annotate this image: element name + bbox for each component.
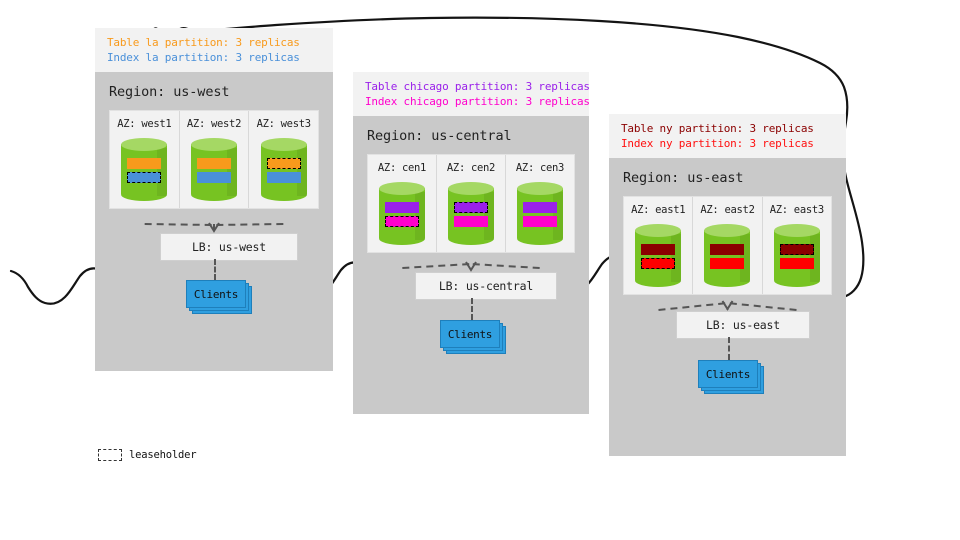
index-la-replica (197, 172, 231, 183)
table-la-replica (127, 158, 161, 169)
index-partition-line: Index la partition: 3 replicas (107, 50, 321, 65)
load-balancer-us-central[interactable]: LB: us-central (415, 272, 557, 300)
index-chicago-replica (523, 216, 557, 227)
table-ny-replica-leaseholder (780, 244, 814, 255)
table-chicago-replica-leaseholder (454, 202, 488, 213)
region-body-us-west: Region: us-westAZ: west1AZ: west2AZ: wes… (95, 72, 333, 371)
index-ny-replica (780, 258, 814, 269)
az-row: AZ: cen1AZ: cen2AZ: cen3 (367, 154, 575, 253)
node-cylinder-icon (517, 182, 563, 244)
clients-node-us-west[interactable]: Clients (186, 280, 256, 316)
partition-header-us-east: Table ny partition: 3 replicasIndex ny p… (609, 114, 846, 158)
lb-to-clients-connector (728, 337, 730, 360)
az-cell-west2: AZ: west2 (180, 111, 250, 208)
node-cylinder-icon (704, 224, 750, 286)
node-cylinder-icon (635, 224, 681, 286)
lb-to-clients-connector (214, 259, 216, 280)
az-label: AZ: cen2 (437, 162, 505, 174)
cylinder-top (379, 182, 425, 195)
az-label: AZ: west2 (180, 118, 249, 130)
az-cell-cen3: AZ: cen3 (506, 155, 574, 252)
clients-card-front: Clients (186, 280, 246, 308)
az-cell-west3: AZ: west3 (249, 111, 318, 208)
partition-header-us-central: Table chicago partition: 3 replicasIndex… (353, 72, 589, 116)
table-chicago-replica (385, 202, 419, 213)
diagram-canvas: Table la partition: 3 replicasIndex la p… (0, 0, 960, 540)
az-label: AZ: east3 (763, 204, 831, 216)
table-la-replica-leaseholder (267, 158, 301, 169)
cylinder-top (517, 182, 563, 195)
region-title: Region: us-west (95, 72, 333, 110)
table-ny-replica (641, 244, 675, 255)
load-balancer-us-west[interactable]: LB: us-west (160, 233, 298, 261)
index-chicago-replica-leaseholder (385, 216, 419, 227)
az-cell-cen2: AZ: cen2 (437, 155, 506, 252)
lb-to-clients-connector (471, 298, 473, 320)
az-label: AZ: cen1 (368, 162, 436, 174)
az-cell-east2: AZ: east2 (693, 197, 762, 294)
index-la-replica-leaseholder (127, 172, 161, 183)
node-cylinder-icon (191, 138, 237, 200)
cylinder-top (635, 224, 681, 237)
legend-label: leaseholder (129, 449, 196, 461)
region-body-us-east: Region: us-eastAZ: east1AZ: east2AZ: eas… (609, 158, 846, 456)
node-cylinder-icon (774, 224, 820, 286)
clients-card-front: Clients (440, 320, 500, 348)
load-balancer-us-east[interactable]: LB: us-east (676, 311, 810, 339)
table-partition-line: Table ny partition: 3 replicas (621, 121, 834, 136)
cylinder-top (774, 224, 820, 237)
az-cell-west1: AZ: west1 (110, 111, 180, 208)
table-chicago-replica (523, 202, 557, 213)
cylinder-top (121, 138, 167, 151)
clients-node-us-east[interactable]: Clients (698, 360, 768, 396)
index-partition-line: Index chicago partition: 3 replicas (365, 94, 577, 109)
region-panel-us-central: Table chicago partition: 3 replicasIndex… (353, 72, 589, 414)
region-title: Region: us-east (609, 158, 846, 196)
az-label: AZ: east1 (624, 204, 692, 216)
az-label: AZ: east2 (693, 204, 761, 216)
az-label: AZ: west1 (110, 118, 179, 130)
node-cylinder-icon (261, 138, 307, 200)
az-cell-east3: AZ: east3 (763, 197, 831, 294)
az-cell-east1: AZ: east1 (624, 197, 693, 294)
legend: leaseholder (98, 449, 196, 461)
az-cell-cen1: AZ: cen1 (368, 155, 437, 252)
cylinder-top (448, 182, 494, 195)
az-row: AZ: west1AZ: west2AZ: west3 (109, 110, 319, 209)
az-row: AZ: east1AZ: east2AZ: east3 (623, 196, 832, 295)
node-cylinder-icon (121, 138, 167, 200)
clients-node-us-central[interactable]: Clients (440, 320, 510, 356)
table-la-replica (197, 158, 231, 169)
table-partition-line: Table chicago partition: 3 replicas (365, 79, 577, 94)
region-panel-us-west: Table la partition: 3 replicasIndex la p… (95, 28, 333, 371)
index-chicago-replica (454, 216, 488, 227)
cylinder-top (261, 138, 307, 151)
partition-header-us-west: Table la partition: 3 replicasIndex la p… (95, 28, 333, 72)
node-cylinder-icon (379, 182, 425, 244)
index-ny-replica-leaseholder (641, 258, 675, 269)
index-partition-line: Index ny partition: 3 replicas (621, 136, 834, 151)
region-body-us-central: Region: us-centralAZ: cen1AZ: cen2AZ: ce… (353, 116, 589, 414)
leaseholder-dashed-rect-icon (98, 449, 122, 461)
region-panel-us-east: Table ny partition: 3 replicasIndex ny p… (609, 114, 846, 456)
index-ny-replica (710, 258, 744, 269)
cylinder-top (191, 138, 237, 151)
az-label: AZ: west3 (249, 118, 318, 130)
index-la-replica (267, 172, 301, 183)
region-title: Region: us-central (353, 116, 589, 154)
node-cylinder-icon (448, 182, 494, 244)
az-label: AZ: cen3 (506, 162, 574, 174)
table-partition-line: Table la partition: 3 replicas (107, 35, 321, 50)
table-ny-replica (710, 244, 744, 255)
clients-card-front: Clients (698, 360, 758, 388)
